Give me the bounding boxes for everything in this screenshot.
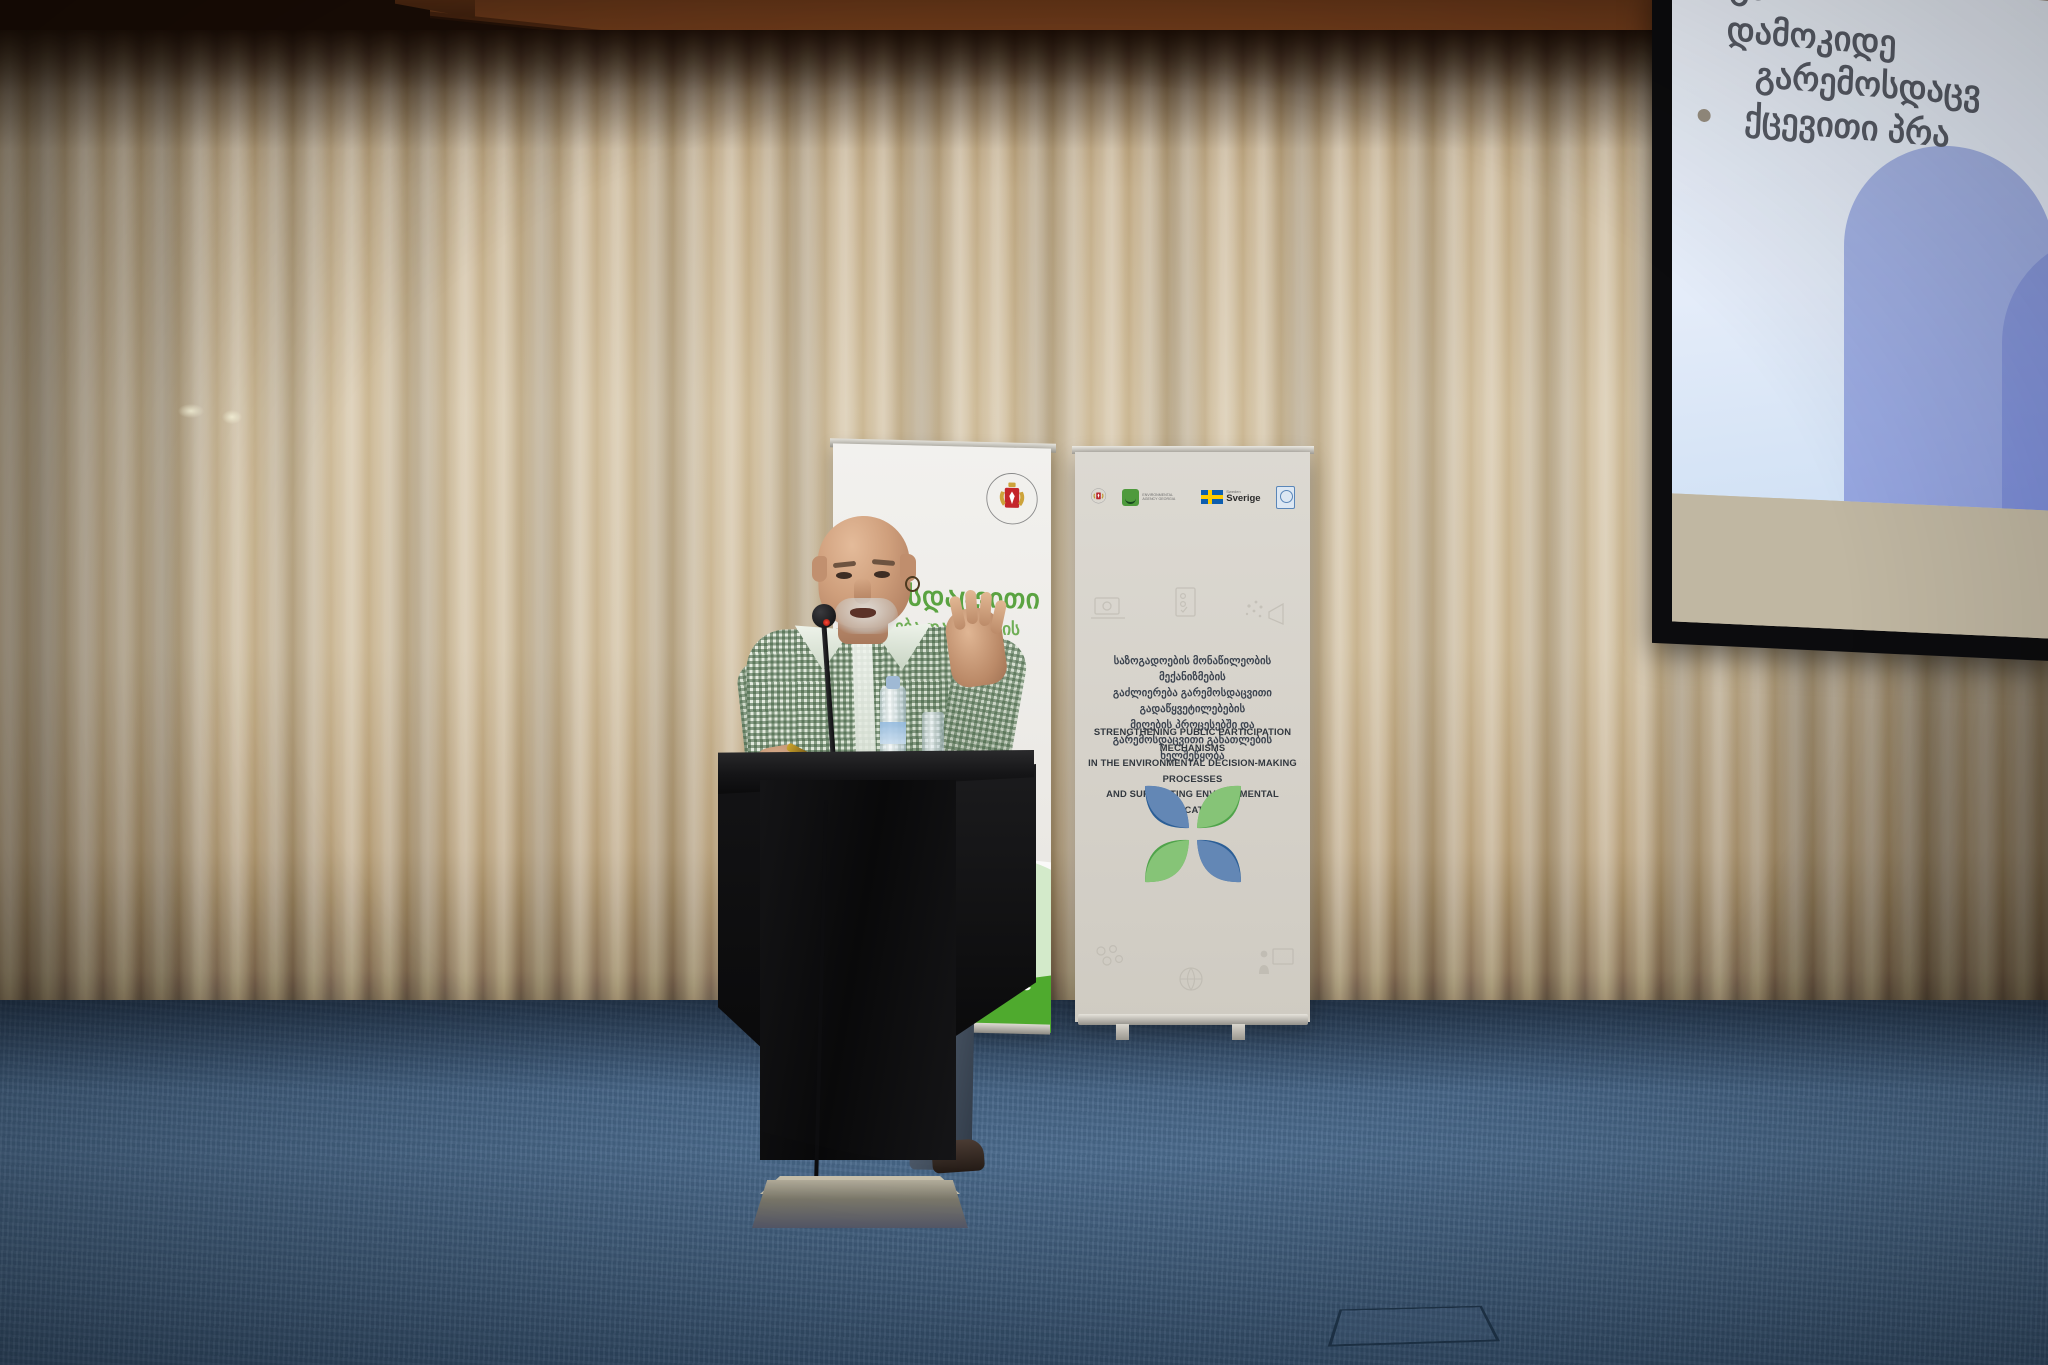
slide-bullet-icon — [1697, 108, 1710, 122]
title-ka-line: გაძლიერება გარემოსდაცვითი გადაწყვეტილებე… — [1084, 686, 1301, 718]
roll-up-banner-main: ENVIRONMENTAL AGENCY GEORGIA Sweden Sver… — [1075, 452, 1310, 1022]
georgian-coat-of-arms-icon — [985, 471, 1039, 526]
document-checklist-icon — [1173, 586, 1199, 620]
curtain-light-glare — [222, 410, 242, 424]
banner-main-logo-row: ENVIRONMENTAL AGENCY GEORGIA Sweden Sver… — [1075, 480, 1310, 514]
projection-screen-surface[interactable]: გა დამოკიდე გარემოსდაცვ ქცევითი პრა — [1672, 0, 2048, 639]
floor-cable-hatch — [1328, 1306, 1500, 1347]
banner-main-base — [1078, 1014, 1308, 1025]
environment-agency-mark-icon — [1122, 489, 1139, 506]
speaker-finger — [979, 592, 992, 627]
screen-blank-area — [1672, 493, 2048, 638]
megaphone-icon — [1243, 598, 1287, 634]
sweden-logo: Sweden Sverige — [1201, 490, 1260, 504]
speaker-earring — [905, 576, 920, 592]
speaker-mouth — [850, 608, 876, 618]
slide-text-block: გა დამოკიდე გარემოსდაცვ ქცევითი პრა — [1697, 0, 2048, 172]
title-en-line: STRENGTHENING PUBLIC PARTICIPATION MECHA… — [1086, 724, 1299, 755]
microphone-led-indicator — [823, 619, 830, 626]
speaker-eye-left — [836, 572, 852, 579]
four-petal-logo-icon — [1141, 782, 1245, 886]
four-petal-logo — [1141, 782, 1245, 886]
laptop-icon — [1091, 596, 1125, 622]
water-bottle-label — [880, 722, 906, 744]
curtain-light-glare — [178, 404, 204, 418]
sweden-label: Sverige — [1226, 494, 1260, 504]
conference-room-scene: გა დამოკიდე გარემოსდაცვ ქცევითი პრა ემოს… — [0, 0, 2048, 1365]
projected-slide: გა დამოკიდე გარემოსდაცვ ქცევითი პრა — [1672, 0, 2048, 511]
sweden-flag-icon — [1201, 490, 1223, 504]
environment-agency-logo: ENVIRONMENTAL AGENCY GEORGIA — [1122, 489, 1186, 506]
environment-agency-label: ENVIRONMENTAL AGENCY GEORGIA — [1142, 493, 1186, 502]
curtain-left-shading — [0, 30, 240, 1040]
un-undp-logo-icon — [1276, 486, 1295, 509]
sweden-label-block: Sweden Sverige — [1226, 490, 1260, 504]
lectern-left-panel — [718, 772, 766, 1052]
speaker-finger — [965, 590, 978, 625]
lectern-plinth — [752, 1180, 968, 1228]
people-group-icon — [1091, 942, 1129, 976]
globe-icon — [1175, 964, 1207, 994]
lectern-body — [760, 780, 956, 1160]
banner-main-foot — [1116, 1024, 1129, 1040]
title-ka-line: საზოგადოების მონაწილეობის მექანიზმების — [1084, 654, 1301, 686]
water-bottle-cap — [886, 676, 900, 689]
banner-main-foot — [1232, 1024, 1245, 1040]
georgia-crest-logo-icon — [1090, 487, 1107, 507]
speaker-ear-left — [812, 556, 827, 582]
presenter-board-icon — [1257, 946, 1295, 978]
speaker-eye-right — [874, 571, 890, 578]
